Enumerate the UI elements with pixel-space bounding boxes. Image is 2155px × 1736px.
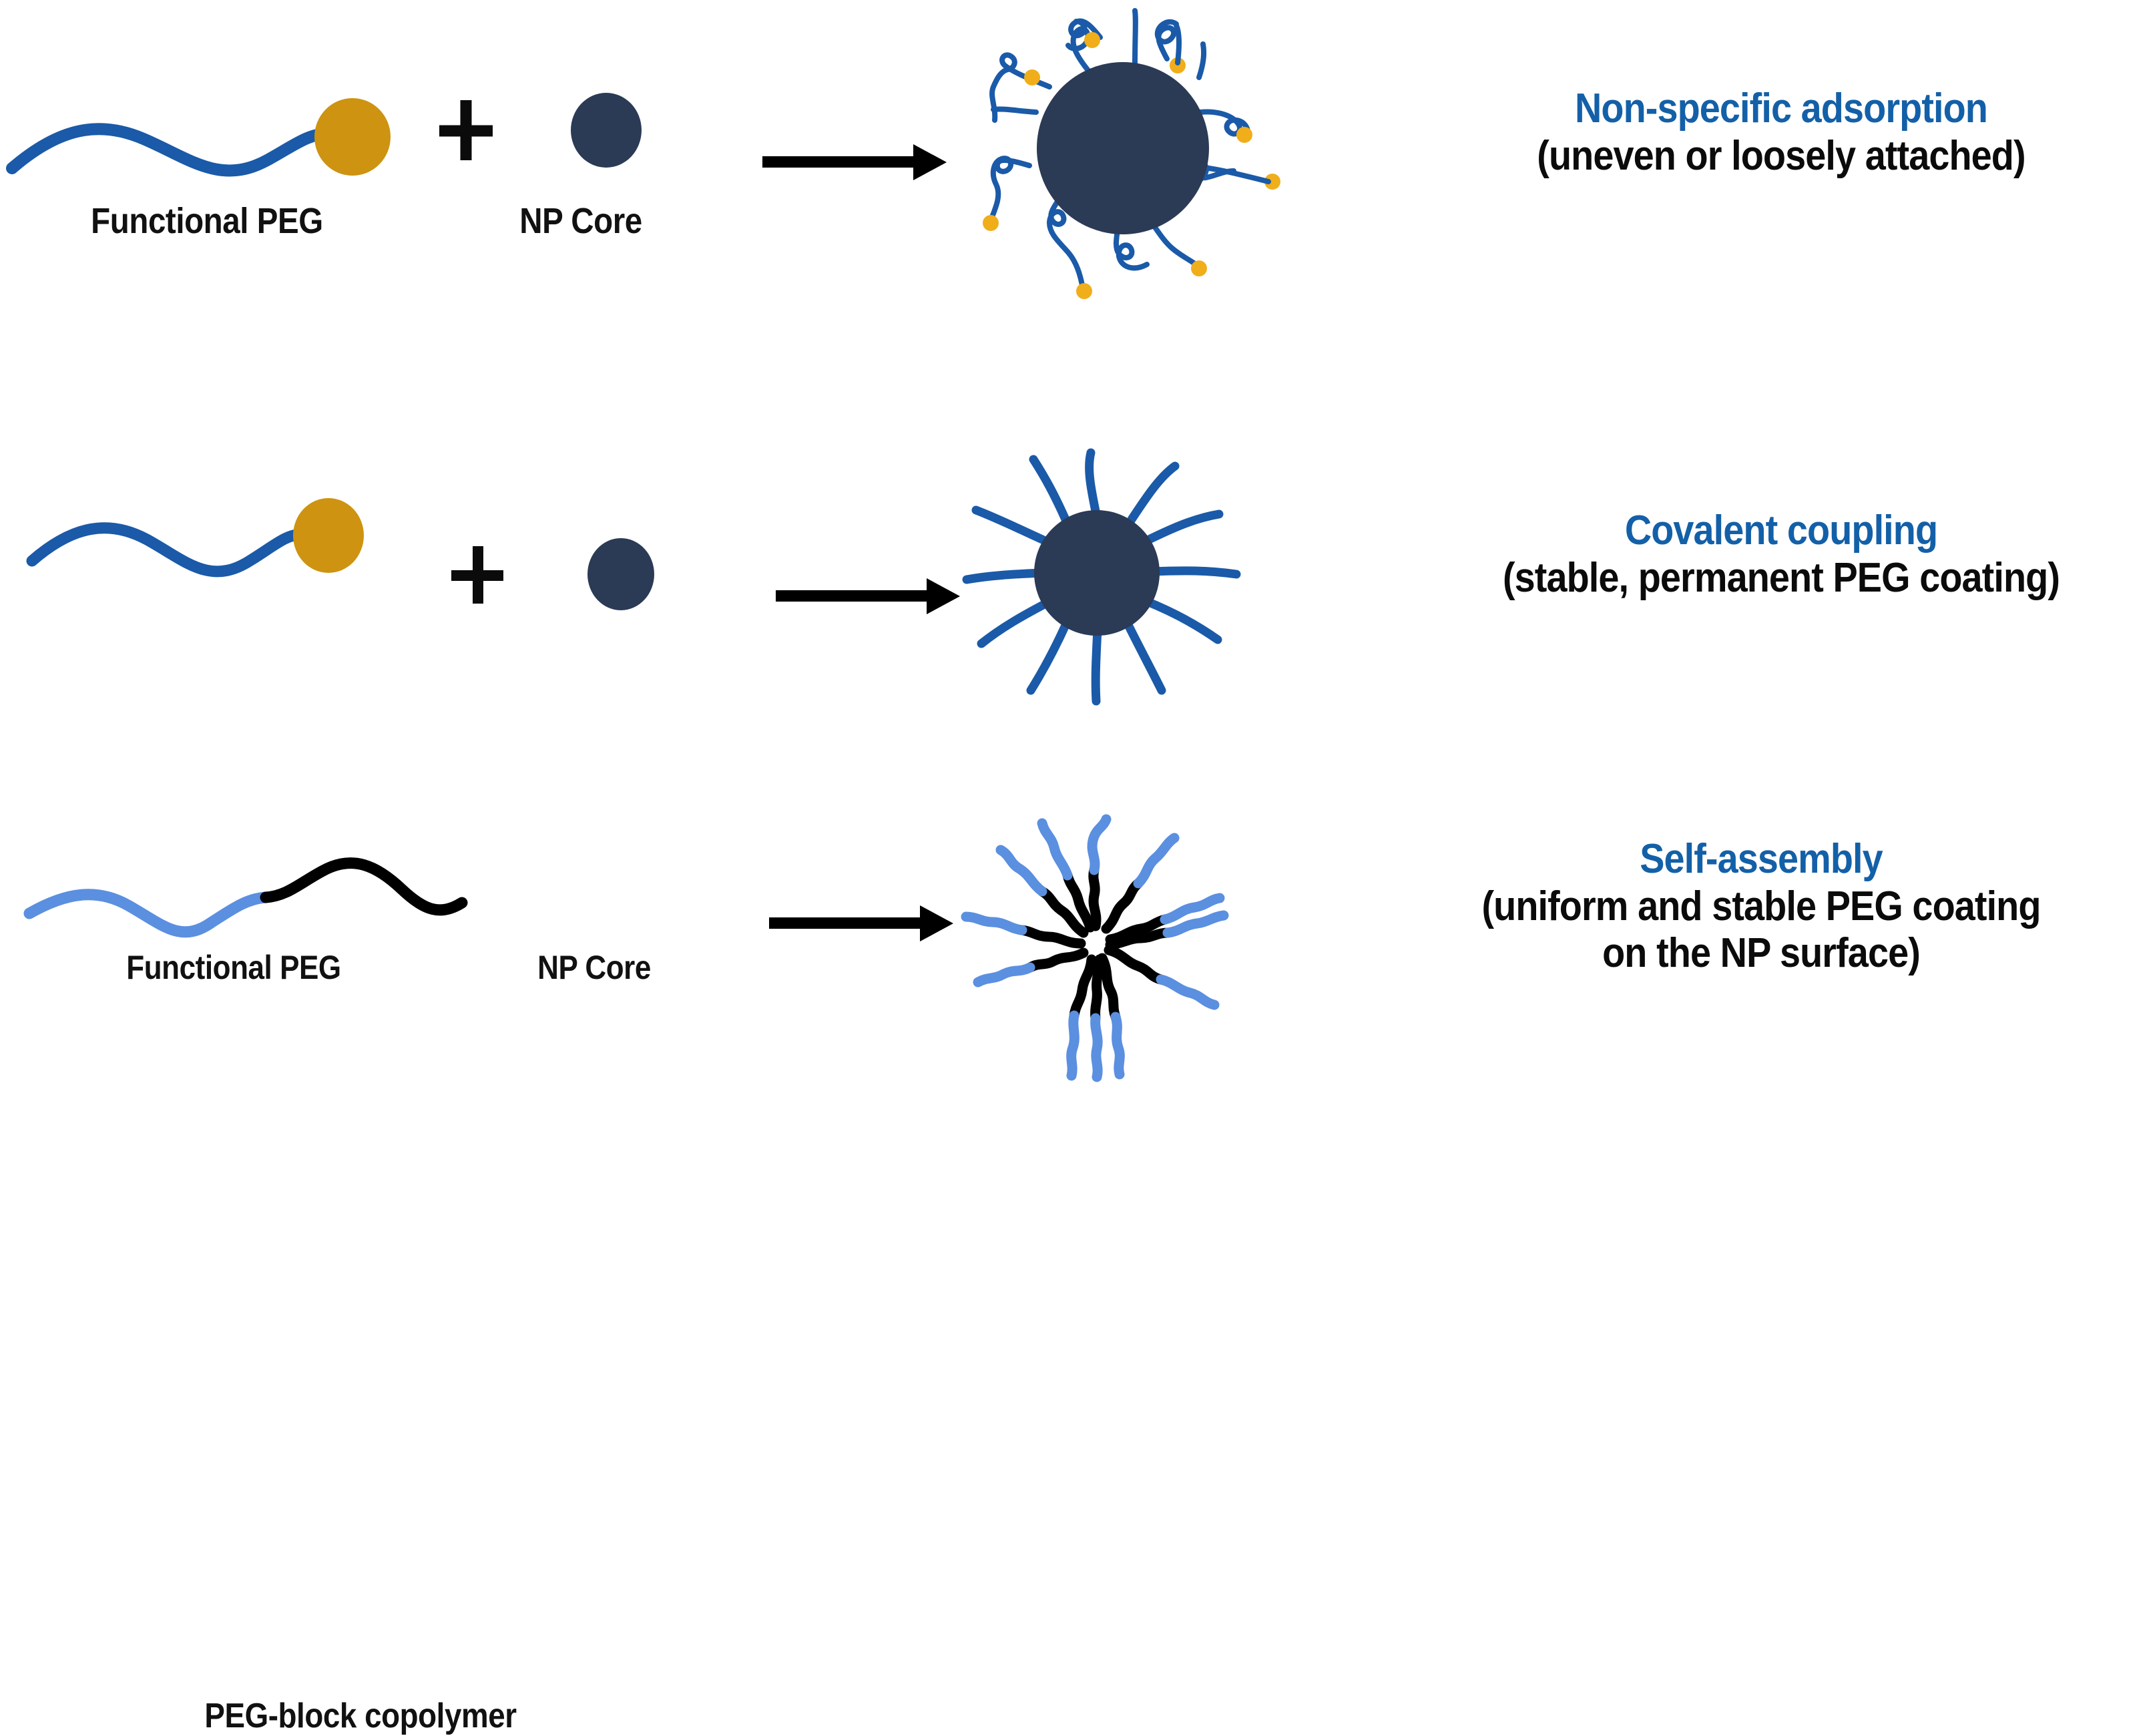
- functional-peg-molecule-row2: [20, 487, 421, 648]
- label-functional-peg-row1: Functional PEG: [25, 200, 389, 242]
- plus-icon: [439, 100, 493, 160]
- np-core-icon: [571, 93, 642, 168]
- hydrophobic-block-segment-icon: [266, 863, 462, 910]
- peg-chain-wave-icon: [32, 528, 303, 572]
- np-core-row1: [547, 80, 668, 200]
- arrow-right-icon: [769, 905, 953, 941]
- description-title-row1: Non-specific adsorption: [1445, 85, 2118, 133]
- np-core-row2: [567, 527, 688, 648]
- plus-symbol-row2: [441, 534, 521, 614]
- functional-group-icon: [314, 98, 391, 176]
- plus-symbol-row1: [427, 87, 507, 167]
- arrow-right-icon: [762, 144, 947, 180]
- peg-block-copolymer-molecule: [13, 855, 694, 988]
- description-non-specific-adsorption: Non-specific adsorption (uneven or loose…: [1407, 85, 2155, 180]
- label-peg-block-copolymer: PEG-block copolymer: [96, 1696, 625, 1736]
- np-core-icon: [1034, 510, 1160, 636]
- peg-chain-wave-icon: [12, 129, 328, 170]
- description-title-row2: Covalent coupling: [1445, 507, 2118, 555]
- functional-peg-molecule-row1: [0, 27, 414, 187]
- row-non-specific-adsorption: Functional PEG NP Core: [0, 0, 2155, 374]
- np-core-icon: [1037, 62, 1209, 234]
- np-with-loose-peg-product: [935, 0, 1295, 314]
- peg-block-segment-icon: [29, 895, 266, 932]
- description-title-row3: Self-assembly: [1407, 836, 2116, 883]
- description-sub-row1: (uneven or loosely attached): [1445, 133, 2118, 180]
- description-sub-row2: (stable, permanent PEG coating): [1445, 555, 2118, 602]
- pegylation-strategies-figure: Functional PEG NP Core Non-specific adso…: [0, 0, 2155, 1123]
- micelle-peg-corona-icon: [966, 819, 1224, 1077]
- label-np-core-row1: NP Core: [434, 200, 728, 242]
- peg-block-copolymer-micelle-product: [931, 785, 1265, 1085]
- np-core-icon: [587, 538, 654, 610]
- np-with-covalent-peg-brush-product: [928, 414, 1275, 708]
- description-sub-row3-line2: on the NP surface): [1407, 930, 2116, 978]
- description-self-assembly: Self-assembly (uniform and stable PEG co…: [1367, 836, 2155, 978]
- functional-group-icon: [293, 498, 364, 573]
- description-sub-row3-line1: (uniform and stable PEG coating: [1407, 883, 2116, 931]
- plus-icon: [451, 546, 503, 604]
- description-covalent-coupling: Covalent coupling (stable, permanent PEG…: [1407, 507, 2155, 602]
